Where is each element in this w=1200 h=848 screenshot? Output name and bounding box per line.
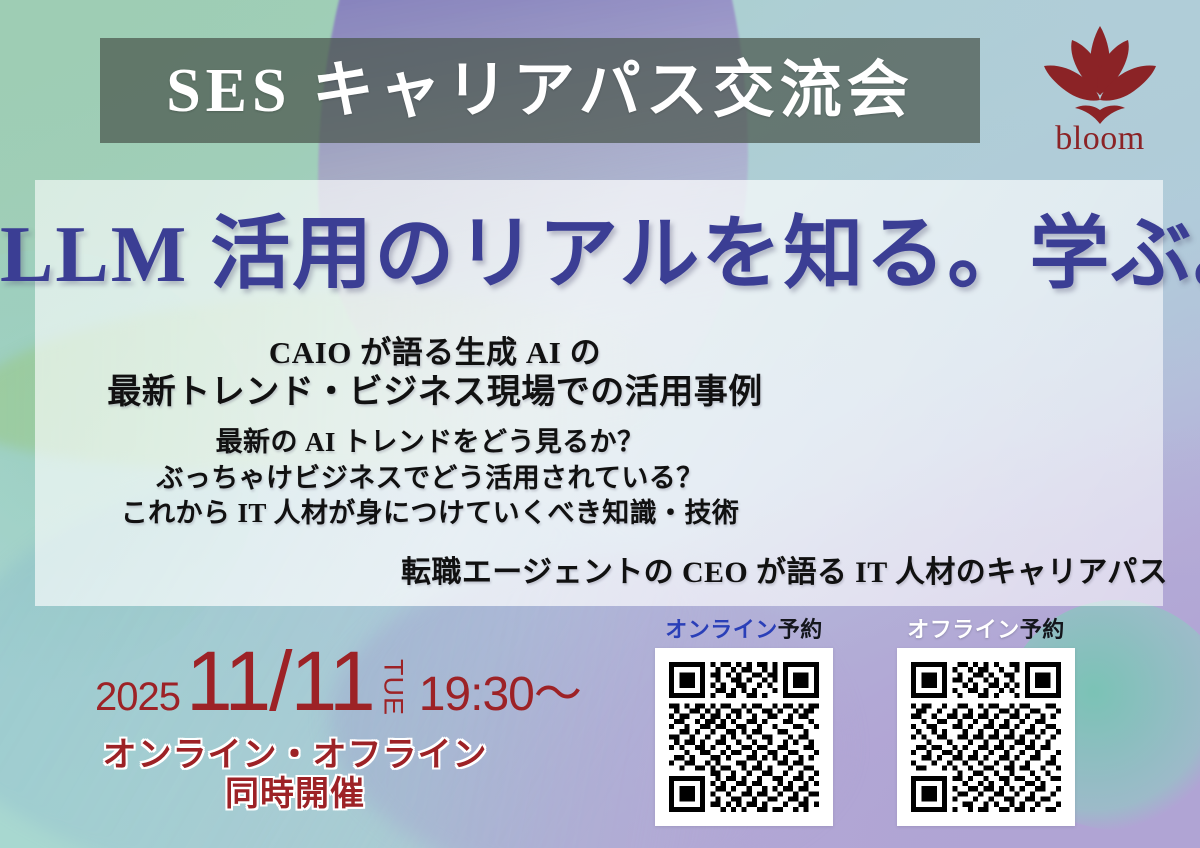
qr-block-online[interactable]: オンライン予約 — [655, 612, 833, 826]
event-date: 2025 11/11 TUE 19:30〜 — [95, 644, 581, 724]
subtitle-line-2: 最新トレンド・ビジネス現場での活用事例 — [0, 372, 870, 415]
qr-label-online: オンライン予約 — [655, 612, 833, 644]
question-item: 最新の AI トレンドをどう見るか？ — [0, 425, 860, 461]
date-time: 19:30〜 — [419, 654, 581, 724]
subtitle-line-1: CAIO が語る生成 AI の — [0, 333, 870, 372]
date-year: 2025 — [95, 675, 180, 720]
subtitle-block: CAIO が語る生成 AI の 最新トレンド・ビジネス現場での活用事例 — [0, 333, 870, 415]
bloom-logo: bloom — [1020, 24, 1180, 174]
hybrid-line-1: オンライン・オフライン — [95, 736, 495, 775]
headline-text: LLM 活用のリアルを知る。学ぶ。 — [0, 215, 1200, 295]
ceo-topic-line: 転職エージェントの CEO が語る IT 人材のキャリアパス — [0, 547, 1168, 591]
question-item: ぶっちゃけビジネスでどう活用されている？ — [0, 461, 860, 497]
qr-reserve-online: 予約 — [778, 617, 823, 642]
date-day: 11/11 — [186, 644, 374, 720]
event-poster: SES キャリアパス交流会 bloom LLM 活用のリアルを知る。学ぶ。 CA… — [0, 0, 1200, 848]
question-item: これから IT 人材が身につけていくべき知識・技術 — [0, 496, 860, 532]
qr-mode-offline: オフライン — [907, 617, 1020, 642]
qr-code-online[interactable] — [655, 648, 833, 826]
banner-title-text: SES キャリアパス交流会 — [166, 60, 914, 122]
qr-mode-online: オンライン — [665, 617, 778, 642]
question-list: 最新の AI トレンドをどう見るか？ ぶっちゃけビジネスでどう活用されている？ … — [0, 425, 860, 532]
lotus-flower-icon — [1020, 24, 1180, 124]
qr-label-offline: オフライン予約 — [897, 612, 1075, 644]
date-weekday: TUE — [380, 659, 407, 716]
qr-reserve-offline: 予約 — [1020, 617, 1065, 642]
hybrid-notice: オンライン・オフライン 同時開催 — [95, 736, 495, 815]
qr-block-offline[interactable]: オフライン予約 — [897, 612, 1075, 826]
title-banner: SES キャリアパス交流会 — [100, 38, 980, 143]
qr-code-offline[interactable] — [897, 648, 1075, 826]
logo-wordmark: bloom — [1020, 122, 1180, 156]
hybrid-line-2: 同時開催 — [95, 775, 495, 814]
